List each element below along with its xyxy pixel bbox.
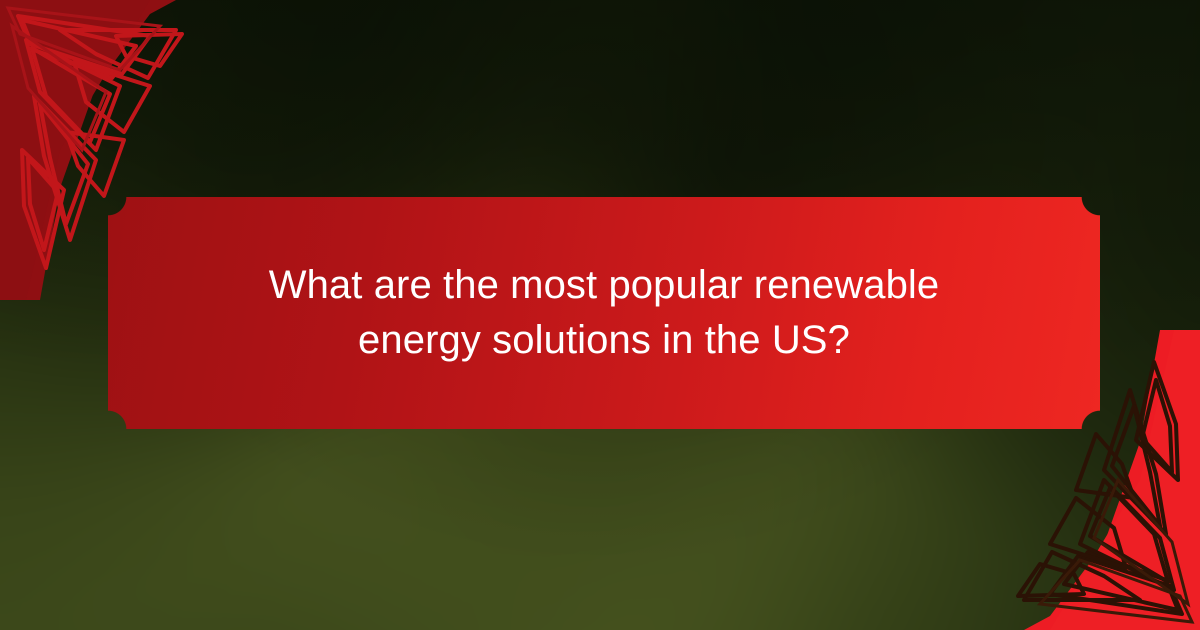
- share-card-canvas: What are the most popular renewable ener…: [0, 0, 1200, 630]
- question-card-surface: What are the most popular renewable ener…: [108, 197, 1100, 429]
- question-card: What are the most popular renewable ener…: [108, 197, 1100, 429]
- question-text: What are the most popular renewable ener…: [185, 258, 1023, 368]
